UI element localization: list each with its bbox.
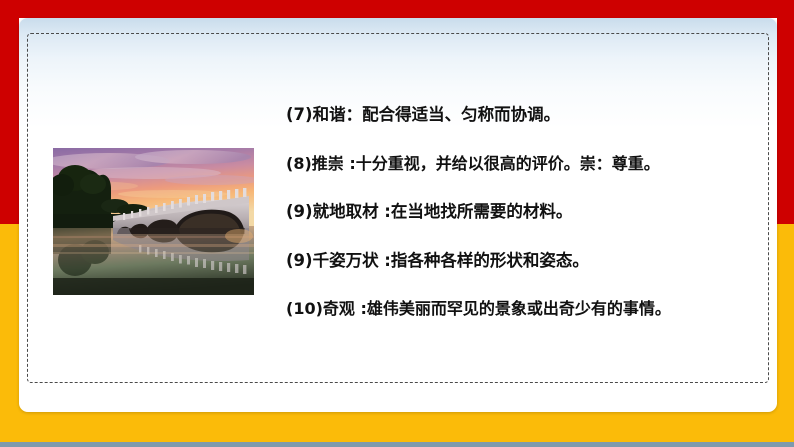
- bridge-photo-artwork: [53, 148, 254, 295]
- slide-canvas: (7)和谐：配合得适当、匀称而协调。 (8)推崇 :十分重视，并给以很高的评价。…: [0, 0, 794, 447]
- footer-accent-line: [0, 442, 794, 447]
- right-red-band: [777, 0, 794, 224]
- definition-item-8: (8)推崇 :十分重视，并给以很高的评价。崇：尊重。: [286, 154, 766, 174]
- definition-list: (7)和谐：配合得适当、匀称而协调。 (8)推崇 :十分重视，并给以很高的评价。…: [286, 105, 766, 319]
- left-red-band: [0, 0, 19, 224]
- content-card: (7)和谐：配合得适当、匀称而协调。 (8)推崇 :十分重视，并给以很高的评价。…: [19, 18, 777, 412]
- top-red-band: [0, 0, 794, 18]
- definition-item-9b: (9)千姿万状 :指各种各样的形状和姿态。: [286, 251, 766, 271]
- bridge-sunset-photo: [53, 148, 254, 295]
- definition-item-7: (7)和谐：配合得适当、匀称而协调。: [286, 105, 766, 125]
- definition-item-10: (10)奇观 :雄伟美丽而罕见的景象或出奇少有的事情。: [286, 299, 766, 319]
- definition-item-9a: (9)就地取材 :在当地找所需要的材料。: [286, 202, 766, 222]
